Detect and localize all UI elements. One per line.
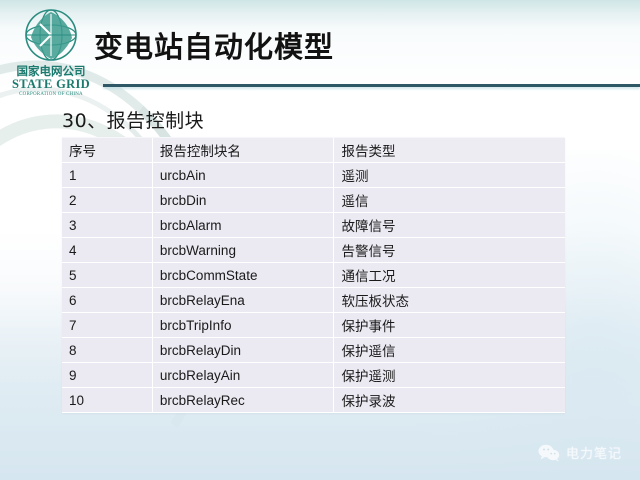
cell-name: brcbRelayEna bbox=[152, 288, 334, 313]
cell-type: 故障信号 bbox=[334, 213, 565, 238]
state-grid-logo: 国家电网公司 STATE GRID CORPORATION OF CHINA bbox=[8, 6, 94, 98]
watermark-text: 电力笔记 bbox=[566, 443, 622, 462]
cell-name: brcbRelayRec bbox=[152, 388, 334, 413]
table-row: 2 brcbDin 遥信 bbox=[62, 188, 565, 213]
table-row: 6 brcbRelayEna 软压板状态 bbox=[62, 288, 565, 313]
cell-type: 保护遥测 bbox=[334, 363, 565, 388]
page-title: 变电站自动化模型 bbox=[94, 24, 334, 66]
cell-name: urcbAin bbox=[152, 163, 334, 188]
cell-index: 1 bbox=[62, 163, 152, 188]
table-row: 9 urcbRelayAin 保护遥测 bbox=[62, 363, 565, 388]
cell-type: 通信工况 bbox=[334, 263, 565, 288]
cell-index: 9 bbox=[62, 363, 152, 388]
cell-name: brcbWarning bbox=[152, 238, 334, 263]
table-header-row: 序号 报告控制块名 报告类型 bbox=[62, 138, 565, 163]
cell-name: urcbRelayAin bbox=[152, 363, 334, 388]
cell-index: 10 bbox=[62, 388, 152, 413]
column-header-type: 报告类型 bbox=[334, 138, 565, 163]
column-header-name: 报告控制块名 bbox=[152, 138, 334, 163]
logo-company-en: STATE GRID bbox=[8, 78, 94, 91]
title-divider bbox=[103, 84, 640, 87]
cell-name: brcbCommState bbox=[152, 263, 334, 288]
cell-type: 保护录波 bbox=[334, 388, 565, 413]
state-grid-globe-icon bbox=[20, 6, 82, 64]
cell-index: 2 bbox=[62, 188, 152, 213]
cell-index: 8 bbox=[62, 338, 152, 363]
watermark: 电力笔记 bbox=[538, 443, 622, 462]
cell-index: 5 bbox=[62, 263, 152, 288]
wechat-icon bbox=[538, 444, 560, 462]
section-heading: 30、报告控制块 bbox=[62, 106, 204, 133]
table-row: 1 urcbAin 遥测 bbox=[62, 163, 565, 188]
table-row: 3 brcbAlarm 故障信号 bbox=[62, 213, 565, 238]
table-row: 4 brcbWarning 告警信号 bbox=[62, 238, 565, 263]
cell-type: 告警信号 bbox=[334, 238, 565, 263]
slide-canvas: 国家电网公司 STATE GRID CORPORATION OF CHINA 变… bbox=[0, 0, 640, 480]
table-row: 7 brcbTripInfo 保护事件 bbox=[62, 313, 565, 338]
cell-index: 7 bbox=[62, 313, 152, 338]
cell-name: brcbDin bbox=[152, 188, 334, 213]
table-row: 8 brcbRelayDin 保护遥信 bbox=[62, 338, 565, 363]
cell-type: 软压板状态 bbox=[334, 288, 565, 313]
cell-type: 保护事件 bbox=[334, 313, 565, 338]
cell-index: 4 bbox=[62, 238, 152, 263]
cell-name: brcbRelayDin bbox=[152, 338, 334, 363]
cell-type: 遥信 bbox=[334, 188, 565, 213]
cell-name: brcbAlarm bbox=[152, 213, 334, 238]
cell-name: brcbTripInfo bbox=[152, 313, 334, 338]
cell-index: 6 bbox=[62, 288, 152, 313]
cell-type: 遥测 bbox=[334, 163, 565, 188]
table-body: 1 urcbAin 遥测 2 brcbDin 遥信 3 brcbAlarm 故障… bbox=[62, 163, 565, 413]
table-row: 10 brcbRelayRec 保护录波 bbox=[62, 388, 565, 413]
column-header-index: 序号 bbox=[62, 138, 152, 163]
table-row: 5 brcbCommState 通信工况 bbox=[62, 263, 565, 288]
cell-type: 保护遥信 bbox=[334, 338, 565, 363]
logo-company-sub: CORPORATION OF CHINA bbox=[8, 91, 94, 98]
cell-index: 3 bbox=[62, 213, 152, 238]
report-control-block-table: 序号 报告控制块名 报告类型 1 urcbAin 遥测 2 brcbDin 遥信… bbox=[62, 137, 565, 413]
